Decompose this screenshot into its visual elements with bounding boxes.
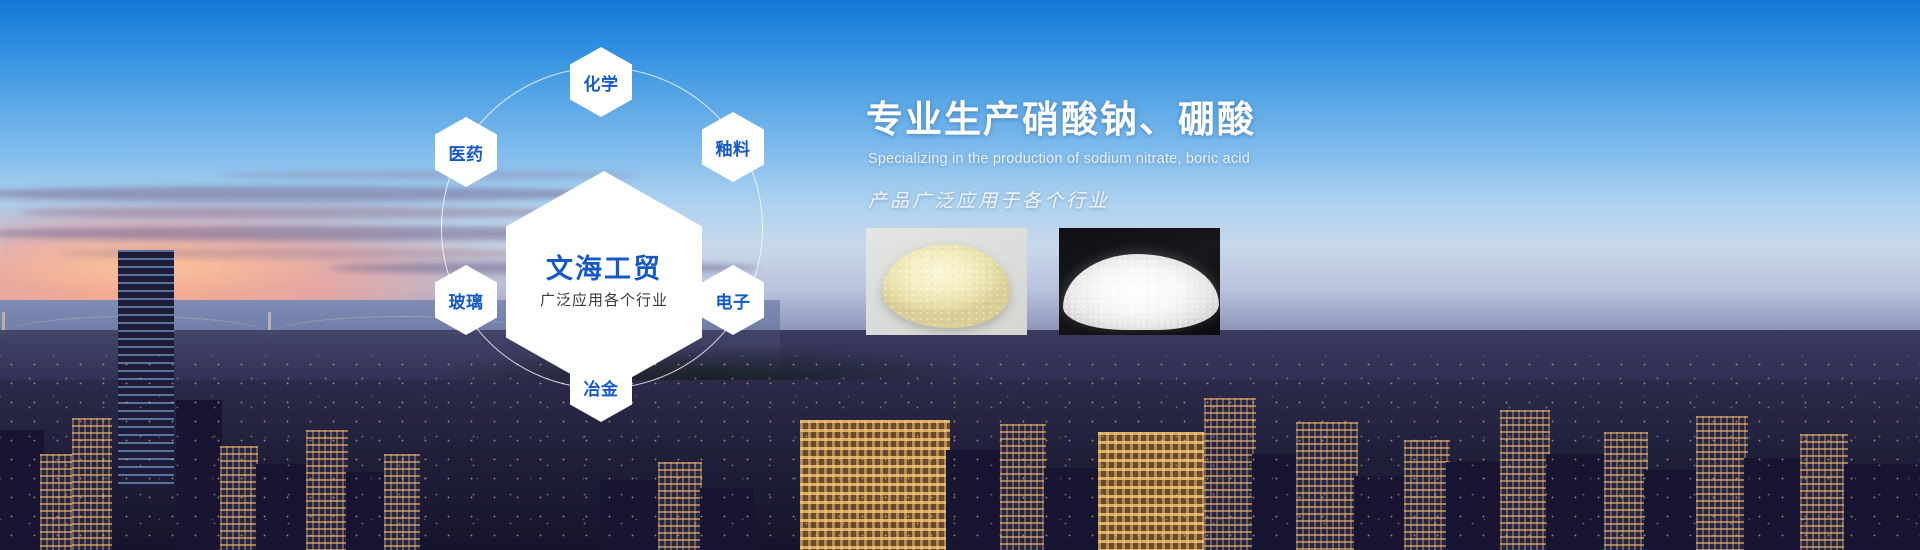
- hex-node-label: 医药: [449, 140, 484, 165]
- headline-text: 专业生产硝酸钠、硼酸: [866, 100, 1566, 141]
- product-photo-gallery: [866, 228, 1220, 335]
- industry-hex-diagram: 文海工贸 广泛应用各个行业 化学 釉料 电子 冶金 玻璃 医药: [414, 22, 794, 432]
- company-tagline: 广泛应用各个行业: [540, 293, 668, 308]
- headline-tagline: 产品广泛应用于各个行业: [868, 186, 1566, 213]
- hex-node-label: 玻璃: [449, 288, 484, 313]
- promo-banner: 文海工贸 广泛应用各个行业 化学 釉料 电子 冶金 玻璃 医药 专业生产硝酸钠、…: [0, 0, 1920, 550]
- company-name: 文海工贸: [546, 256, 662, 283]
- powder-texture: [882, 244, 1010, 328]
- hex-node-label: 化学: [584, 70, 619, 95]
- product-photo-sodium-nitrate[interactable]: [866, 228, 1027, 335]
- hex-node-label: 冶金: [584, 375, 619, 400]
- product-photo-boric-acid[interactable]: [1059, 228, 1220, 335]
- hex-node-label: 釉料: [716, 135, 751, 160]
- headline-block: 专业生产硝酸钠、硼酸 Specializing in the productio…: [866, 100, 1566, 213]
- hex-node-label: 电子: [716, 288, 751, 313]
- headline-subtitle-en: Specializing in the production of sodium…: [868, 151, 1566, 167]
- city-lights: [0, 355, 1920, 550]
- powder-texture: [1063, 254, 1219, 330]
